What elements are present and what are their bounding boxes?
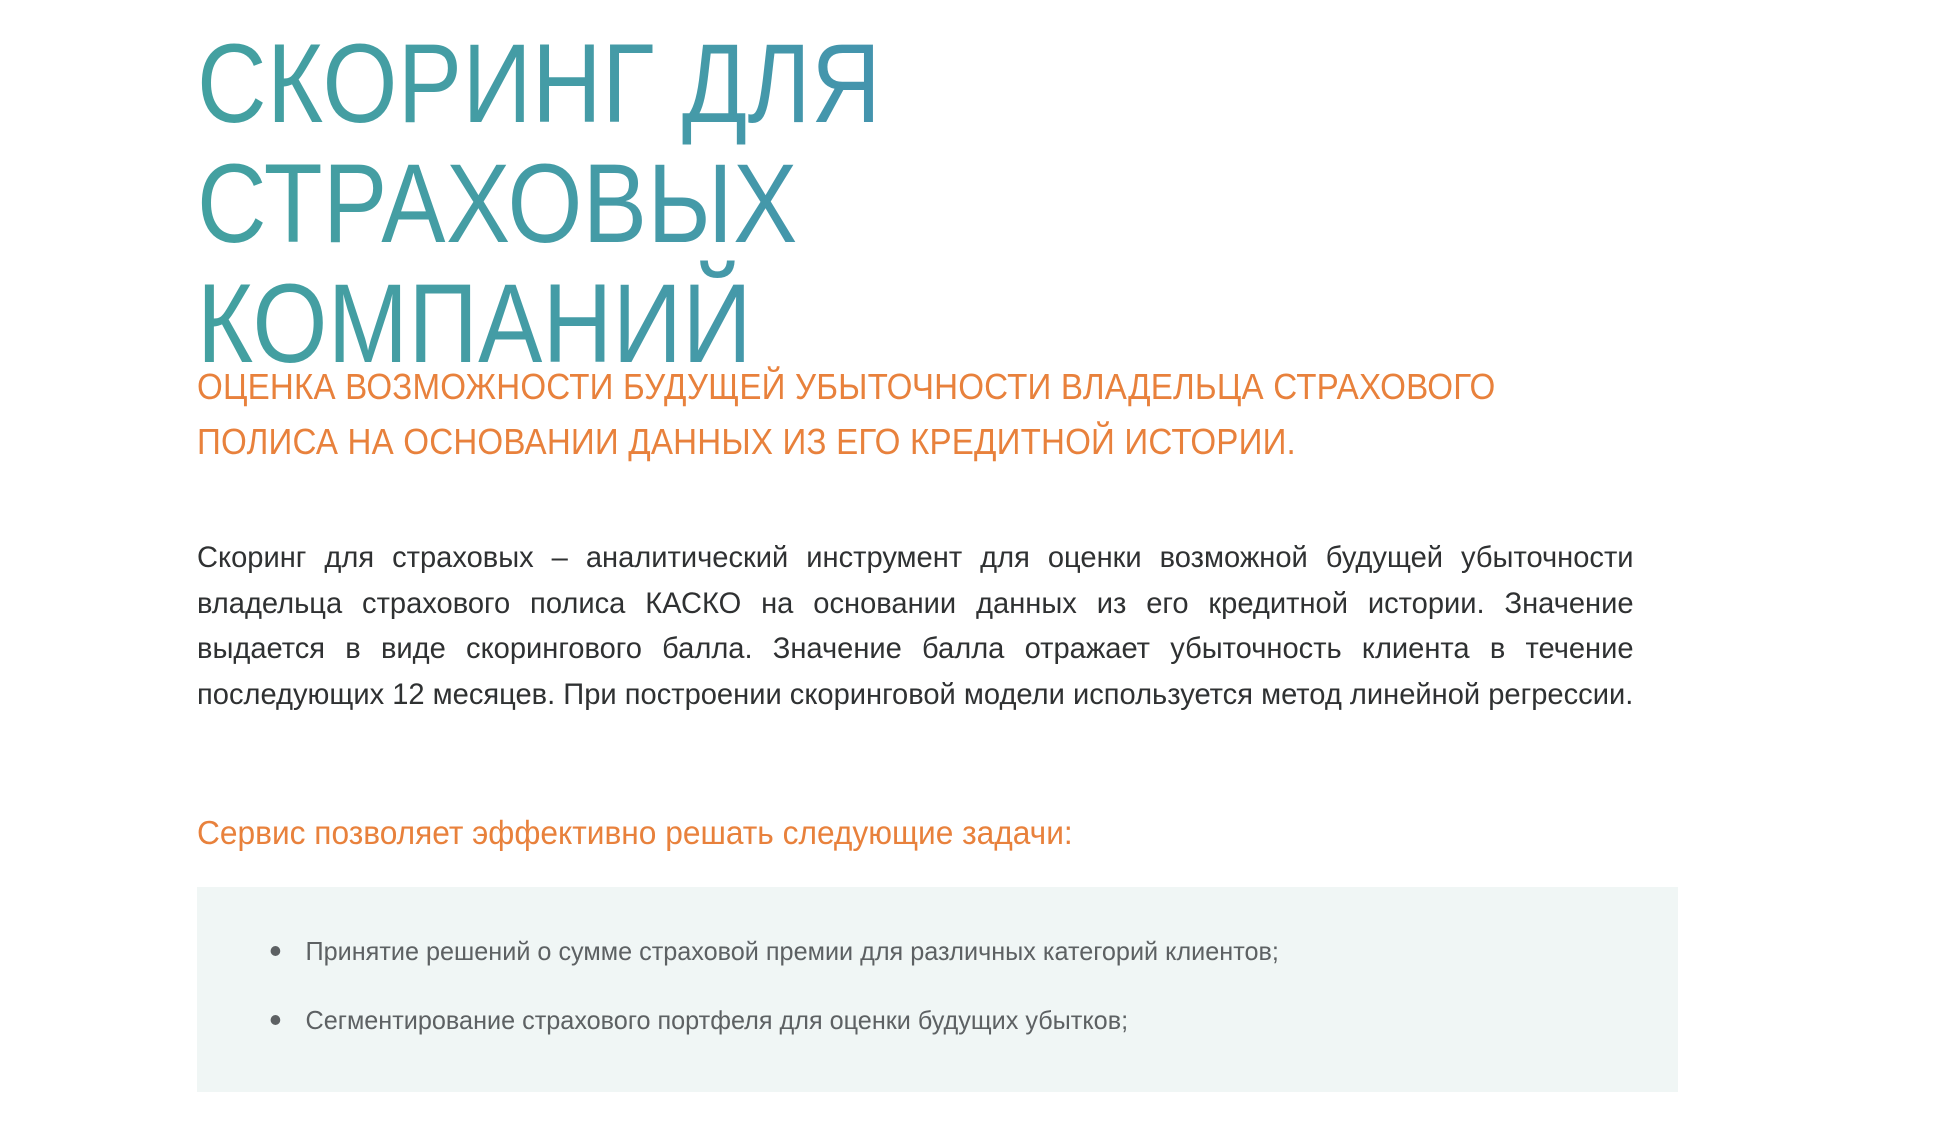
list-item-label: Сегментирование страхового портфеля для … [306,1005,1129,1035]
document-page: СКОРИНГ ДЛЯ СТРАХОВЫХ КОМПАНИЙ ОЦЕНКА ВО… [0,0,1956,1138]
tasks-heading: Сервис позволяет эффективно решать следу… [197,812,1073,855]
tasks-list: Принятие решений о сумме страховой преми… [257,935,1618,1036]
tasks-panel: Принятие решений о сумме страховой преми… [197,887,1678,1092]
bullet-icon [271,1015,281,1025]
page-title: СКОРИНГ ДЛЯ СТРАХОВЫХ КОМПАНИЙ [197,24,1504,383]
lead-paragraph: ОЦЕНКА ВОЗМОЖНОСТИ БУДУЩЕЙ УБЫТОЧНОСТИ В… [197,360,1559,469]
list-item: Принятие решений о сумме страховой преми… [257,935,1577,968]
list-item: Сегментирование страхового портфеля для … [257,1004,1577,1037]
title-block: СКОРИНГ ДЛЯ СТРАХОВЫХ КОМПАНИЙ [197,24,1717,383]
list-item-label: Принятие решений о сумме страховой преми… [306,936,1279,966]
bullet-icon [271,946,281,956]
body-paragraph: Скоринг для страховых – аналитический ин… [197,535,1634,717]
